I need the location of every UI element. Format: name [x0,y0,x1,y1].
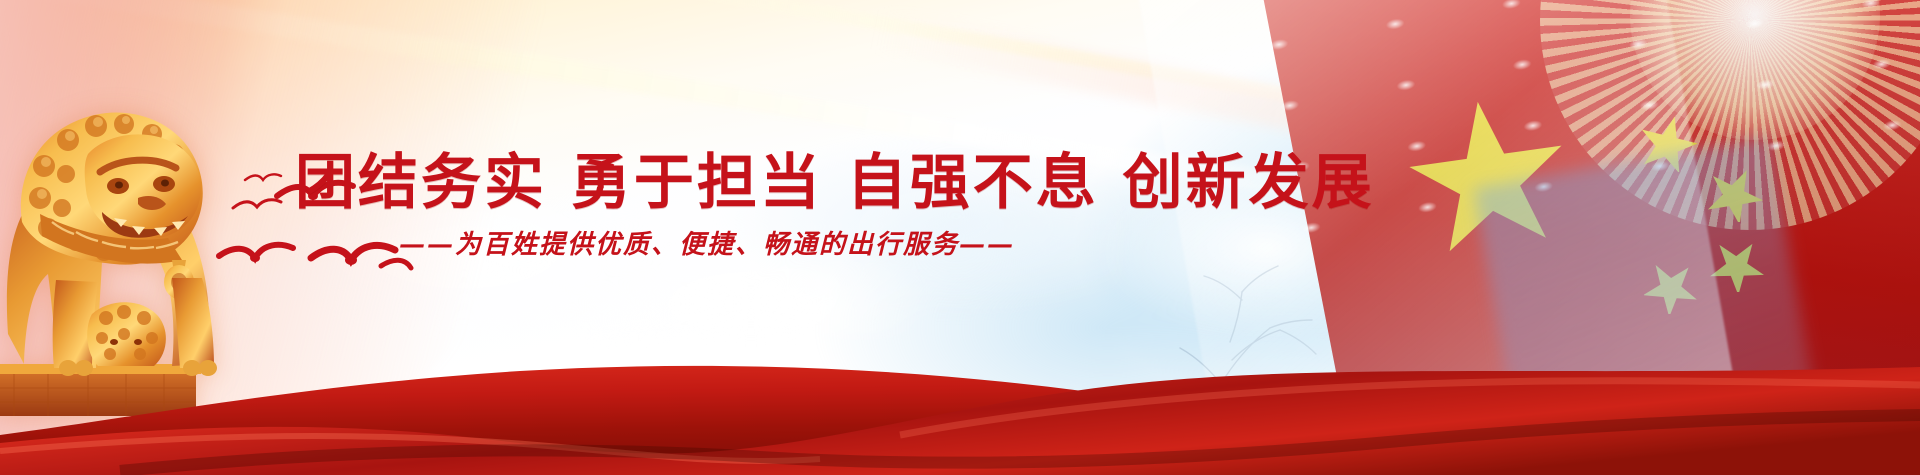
page-subtitle: ——为百姓提供优质、便捷、畅通的出行服务—— [399,224,1015,261]
red-silk-wave [0,285,1920,475]
promotional-banner: 团结务实 勇于担当 自强不息 创新发展 ——为百姓提供优质、便捷、畅通的出行服务… [0,0,1920,475]
page-title: 团结务实 勇于担当 自强不息 创新发展 [295,152,1375,214]
